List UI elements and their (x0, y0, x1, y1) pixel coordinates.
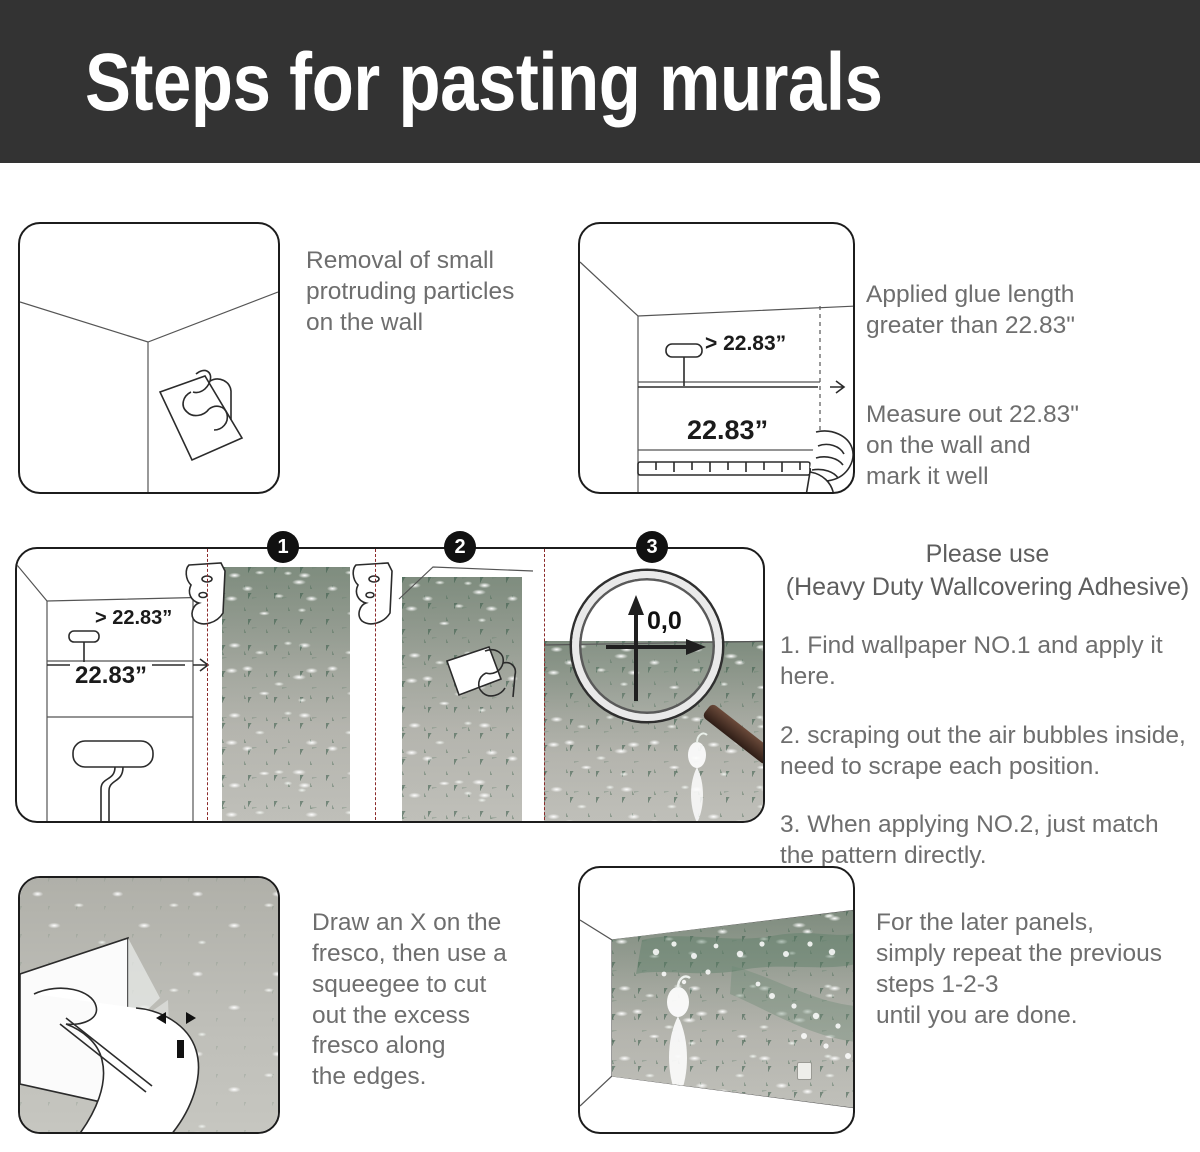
arrow-right-marker-icon (186, 1012, 196, 1024)
squeegee-icon (445, 645, 517, 713)
panel-step-repeat (578, 866, 855, 1134)
hand-holding-corner-right-icon (350, 561, 398, 633)
step-badge-1: 1 (267, 531, 299, 563)
panel-step-trim-art (20, 878, 278, 1132)
peacock-and-foliage (612, 910, 853, 1108)
finished-mural-icon (612, 910, 853, 1108)
panel-step-measure (578, 222, 855, 494)
hand-sandpaper-icon (160, 370, 242, 460)
panel-step-sanding-art (20, 224, 278, 492)
step-badge-2: 2 (444, 531, 476, 563)
caption-step-trim: Draw an X on the fresco, then use a sque… (312, 908, 572, 1093)
wall-corner-illustration (20, 224, 278, 492)
center-mark-icon (177, 1040, 184, 1058)
strip-2-top-edge (393, 565, 533, 605)
caption-applied-glue: Applied glue length greater than 22.83" (866, 280, 1166, 342)
caption-step-repeat: For the later panels, simply repeat the … (876, 908, 1196, 1031)
mural-strip-1 (222, 567, 350, 821)
peacock-motif (667, 729, 737, 821)
infographic-root: Steps for pasting murals Removal of smal… (0, 0, 1200, 1152)
hand-icon (806, 431, 853, 492)
tape-measure-icon (638, 462, 810, 475)
dimension-glue-length: > 22.83” (705, 332, 786, 356)
caption-measure-wall: Measure out 22.83" on the wall and mark … (866, 400, 1176, 493)
panel-step-sanding (18, 222, 280, 494)
origin-label: 0,0 (647, 607, 682, 636)
header-bar: Steps for pasting murals (0, 0, 1200, 163)
caption-step-sanding: Removal of small protruding particles on… (306, 246, 556, 339)
instructions-heading-1: Please use (780, 538, 1195, 571)
seam-line-3 (544, 549, 545, 821)
wall-measure-illustration (580, 224, 853, 492)
seam-line-2 (375, 549, 376, 821)
instructions-block: Please use (Heavy Duty Wallcovering Adhe… (780, 538, 1195, 788)
panel-step-measure-art (580, 224, 853, 492)
instructions-heading-2: (Heavy Duty Wallcovering Adhesive) (780, 571, 1195, 604)
instruction-step-1: 1. Find wallpaper NO.1 and apply it here… (780, 631, 1195, 693)
seam-line-1 (207, 549, 208, 821)
page-title: Steps for pasting murals (85, 36, 883, 130)
glue-roller-icon (666, 344, 702, 386)
trim-illustration (20, 878, 278, 1132)
instruction-step-2: 2. scraping out the air bubbles inside, … (780, 721, 1195, 783)
magnifier-icon (572, 571, 722, 721)
apply-dimension-wall: 22.83” (70, 662, 152, 690)
panel-step-trim (18, 876, 280, 1134)
dimension-wall-length: 22.83” (682, 415, 773, 446)
step-badge-3: 3 (636, 531, 668, 563)
apply-dimension-glue: > 22.83” (95, 607, 172, 630)
wall-outlet-icon (797, 1062, 812, 1080)
glue-roller-icon (69, 631, 99, 665)
panel-step-repeat-art (580, 868, 853, 1132)
instruction-step-3: 3. When applying NO.2, just match the pa… (780, 810, 1195, 872)
paint-roller-icon (73, 741, 153, 821)
